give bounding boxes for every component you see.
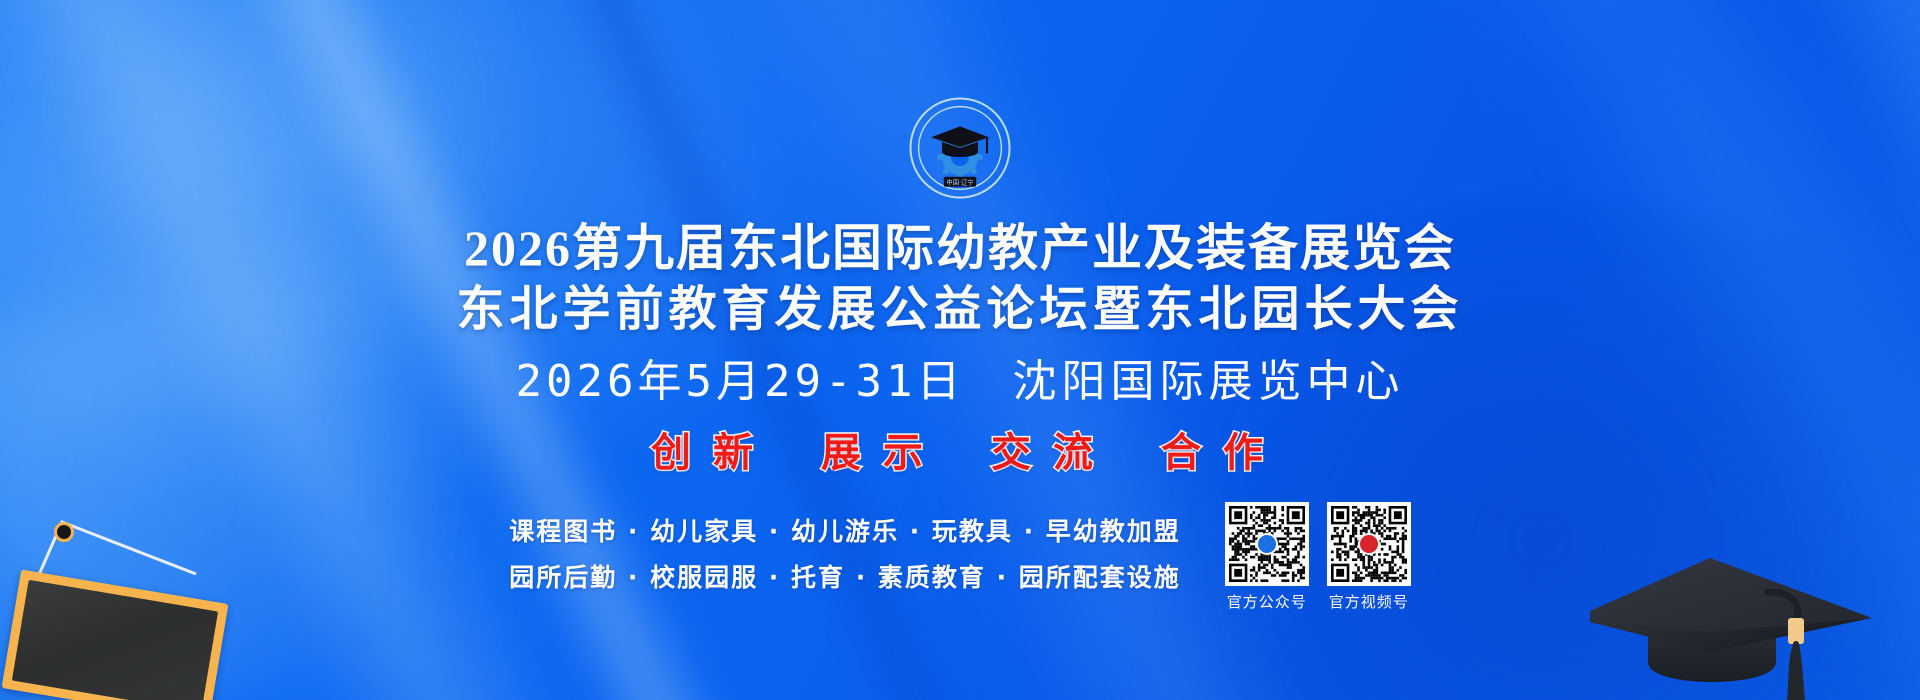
slogan-word-exhibit: 展 示 [821,430,929,476]
qr-video-account[interactable]: 官方视频号 [1327,502,1411,612]
qr-center-logo-icon [1358,533,1380,555]
event-details: 2026年5月29-31日 沈阳国际展览中心 [516,356,1405,408]
event-venue: 沈阳国际展览中心 [1012,356,1404,408]
exhibition-emblem-icon: 中国·辽宁 [906,94,1014,202]
category-line: 课程图书 · 幼儿家具 · 幼儿游乐 · 玩教具 · 早幼教加盟 [509,512,1181,548]
qr-code-image[interactable] [1225,502,1309,586]
category-line: 园所后勤 · 校服园服 · 托育 · 素质教育 · 园所配套设施 [509,558,1181,594]
page-subtitle: 东北学前教育发展公益论坛暨东北园长大会 [456,282,1463,338]
exhibition-banner: 中国·辽宁 2026第九届东北国际幼教产业及装备展览会 东北学前教育发展公益论坛… [0,0,1920,700]
category-list: 课程图书 · 幼儿家具 · 幼儿游乐 · 玩教具 · 早幼教加盟 园所后勤 · … [509,502,1181,594]
slogan-word-cooperate: 合 作 [1161,430,1269,476]
slogan-row: 创 新 展 示 交 流 合 作 [651,430,1269,476]
page-title: 2026第九届东北国际幼教产业及装备展览会 [464,220,1456,276]
qr-label: 官方公众号 [1227,591,1307,612]
qr-code-group: 官方公众号 官方视频号 [1225,502,1411,612]
emblem-banner-text: 中国·辽宁 [946,177,973,186]
qr-code-image[interactable] [1327,502,1411,586]
slogan-word-exchange: 交 流 [991,430,1099,476]
banner-content: 中国·辽宁 2026第九届东北国际幼教产业及装备展览会 东北学前教育发展公益论坛… [0,0,1920,700]
bottom-row: 课程图书 · 幼儿家具 · 幼儿游乐 · 玩教具 · 早幼教加盟 园所后勤 · … [509,502,1411,612]
slogan-word-innovate: 创 新 [651,430,759,476]
event-date: 2026年5月29-31日 [516,356,965,408]
qr-center-logo-icon [1256,533,1278,555]
qr-official-account[interactable]: 官方公众号 [1225,502,1309,612]
qr-label: 官方视频号 [1329,591,1409,612]
